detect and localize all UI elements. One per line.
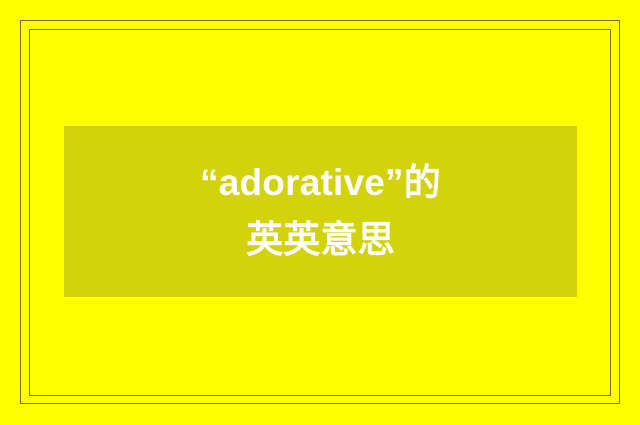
page-title: “adorative”的英英意思 xyxy=(187,155,455,267)
poster-canvas: “adorative”的英英意思 xyxy=(0,0,640,425)
title-plate: “adorative”的英英意思 xyxy=(64,126,577,297)
